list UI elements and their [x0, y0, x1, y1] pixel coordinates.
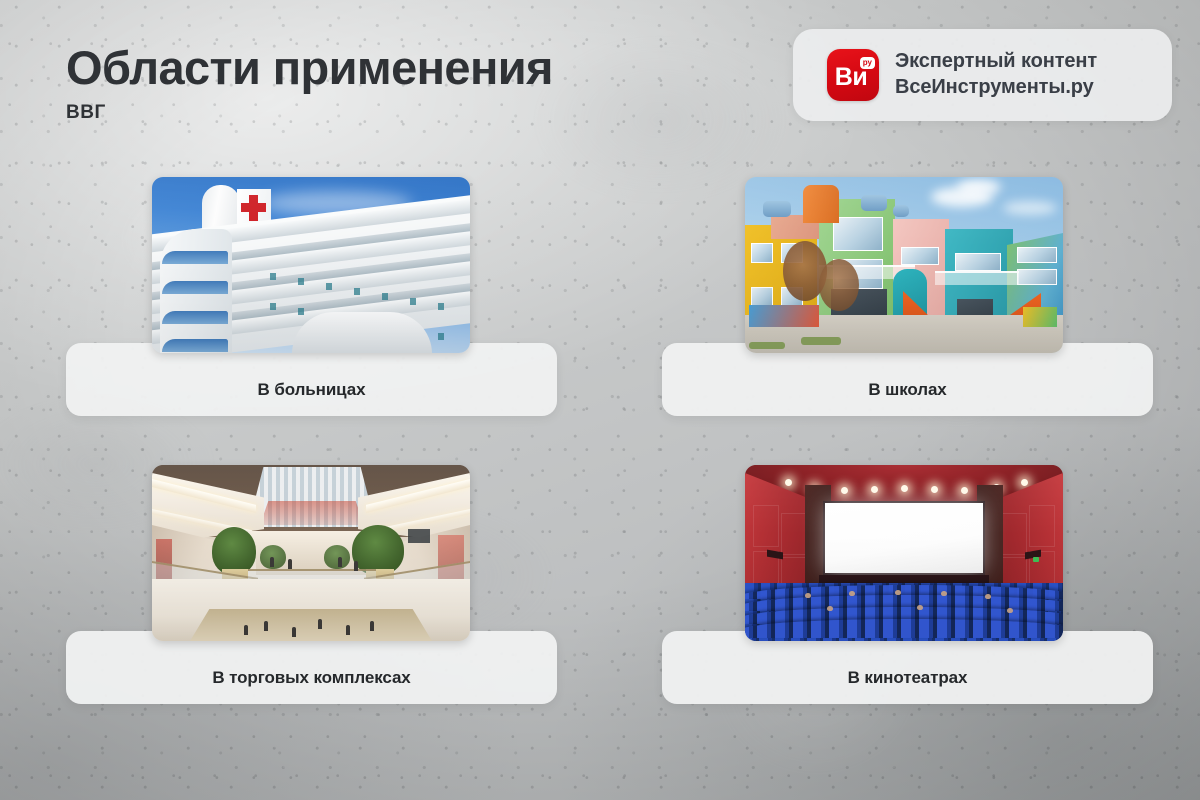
school-photo	[745, 177, 1063, 353]
vseinstrumenty-logo-icon: Ви ру	[827, 49, 879, 101]
card-label-panel: В школах	[662, 343, 1153, 416]
page-title: Области применения	[66, 44, 553, 93]
card-label-text: В кинотеатрах	[848, 668, 968, 688]
page-subtitle: ВВГ	[66, 102, 553, 124]
card-label-text: В торговых комплексах	[212, 668, 410, 688]
brand-line-1: Экспертный контент	[895, 49, 1097, 75]
hospital-photo	[152, 177, 470, 353]
brand-text-block: Экспертный контент ВсеИнструменты.ру	[895, 49, 1097, 100]
card-label-text: В школах	[868, 380, 946, 400]
card-label-panel: В кинотеатрах	[662, 631, 1153, 704]
header: Области применения ВВГ	[66, 44, 553, 124]
cinema-photo	[745, 465, 1063, 641]
brand-line-2: ВсеИнструменты.ру	[895, 75, 1097, 101]
slide-canvas: Области применения ВВГ Ви ру Экспертный …	[0, 0, 1200, 800]
card-label-text: В больницах	[258, 380, 366, 400]
logo-superscript-badge: ру	[860, 57, 875, 69]
brand-badge[interactable]: Ви ру Экспертный контент ВсеИнструменты.…	[793, 29, 1172, 121]
card-label-panel: В торговых комплексах	[66, 631, 557, 704]
mall-photo	[152, 465, 470, 641]
card-label-panel: В больницах	[66, 343, 557, 416]
